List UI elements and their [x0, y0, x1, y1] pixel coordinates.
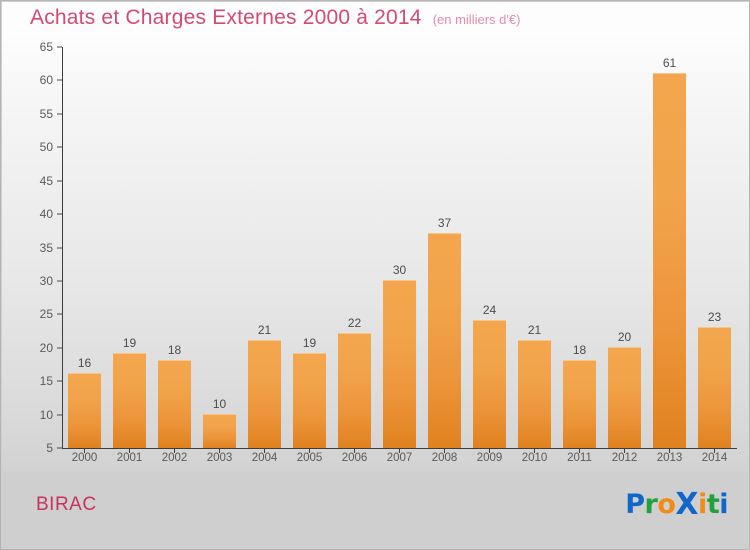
x-tick-label: 2004 — [243, 452, 287, 464]
logo-letter: t — [707, 489, 719, 520]
y-tick-label: 5 — [46, 441, 53, 455]
bar-slot: 61 — [648, 38, 692, 448]
bar[interactable] — [248, 340, 281, 448]
x-tick-label: 2006 — [333, 452, 377, 464]
x-tick-label: 2003 — [198, 452, 242, 464]
bar-value-label: 37 — [423, 216, 467, 230]
bar-value-label: 20 — [603, 330, 647, 344]
logo-letter: r — [645, 489, 658, 520]
chart-footer: BIRAC ProXiti — [2, 472, 750, 549]
chart-page: Achats et Charges Externes 2000 à 2014(e… — [0, 0, 750, 550]
bar-slot: 24 — [468, 38, 512, 448]
y-tick-label: 60 — [40, 73, 53, 87]
bar[interactable] — [608, 347, 641, 448]
y-tick-label: 65 — [40, 40, 53, 54]
chart-header: Achats et Charges Externes 2000 à 2014(e… — [2, 2, 750, 38]
x-tick-label: 2000 — [63, 452, 107, 464]
bar-value-label: 61 — [648, 56, 692, 70]
bar-value-label: 22 — [333, 316, 377, 330]
bar[interactable] — [698, 327, 731, 448]
y-tick-label: 20 — [40, 341, 53, 355]
bar[interactable] — [338, 333, 371, 448]
logo-letter: o — [657, 489, 675, 520]
page-title: Achats et Charges Externes 2000 à 2014 — [30, 6, 422, 29]
x-tick-label: 2011 — [558, 452, 602, 464]
chart-subtitle: (en milliers d'€) — [433, 12, 521, 27]
y-tick-label: 15 — [40, 374, 53, 388]
y-tick-label: 55 — [40, 107, 53, 121]
x-tick-label: 2012 — [603, 452, 647, 464]
bar-slot: 19 — [288, 38, 332, 448]
y-tick-label: 40 — [40, 207, 53, 221]
bar-value-label: 21 — [243, 323, 287, 337]
logo-letter: X — [675, 487, 698, 522]
entity-name: BIRAC — [36, 494, 97, 516]
bar[interactable] — [518, 340, 551, 448]
y-tick-label: 30 — [40, 274, 53, 288]
bar-slot: 16 — [63, 38, 107, 448]
x-tick-label: 2007 — [378, 452, 422, 464]
y-tick-label: 10 — [40, 408, 53, 422]
bar-value-label: 18 — [558, 343, 602, 357]
x-tick-label: 2001 — [108, 452, 152, 464]
bar-slot: 22 — [333, 38, 377, 448]
x-tick-label: 2009 — [468, 452, 512, 464]
bar-slot: 19 — [108, 38, 152, 448]
bar-slot: 21 — [513, 38, 557, 448]
bar-slot: 18 — [558, 38, 602, 448]
bar[interactable] — [473, 320, 506, 448]
y-tick-label: 35 — [40, 241, 53, 255]
bar-value-label: 21 — [513, 323, 557, 337]
x-tick-label: 2013 — [648, 452, 692, 464]
bar-slot: 30 — [378, 38, 422, 448]
x-axis: 2000200120022003200420052006200720082009… — [62, 452, 737, 472]
proxiti-logo[interactable]: ProXiti — [625, 486, 728, 521]
x-tick-label: 2005 — [288, 452, 332, 464]
bar-value-label: 24 — [468, 303, 512, 317]
bar[interactable] — [428, 233, 461, 448]
bar[interactable] — [293, 353, 326, 448]
bar-slot: 18 — [153, 38, 197, 448]
bar-slot: 10 — [198, 38, 242, 448]
bar-value-label: 10 — [198, 397, 242, 411]
bar[interactable] — [113, 353, 146, 448]
logo-letter: P — [625, 489, 644, 520]
bar-value-label: 19 — [288, 336, 332, 350]
bar-slot: 21 — [243, 38, 287, 448]
x-tick-label: 2014 — [693, 452, 737, 464]
bar[interactable] — [203, 414, 236, 448]
bar[interactable] — [68, 373, 101, 448]
x-tick-label: 2010 — [513, 452, 557, 464]
y-tick-label: 45 — [40, 174, 53, 188]
y-tick-label: 25 — [40, 307, 53, 321]
bar-value-label: 30 — [378, 263, 422, 277]
logo-letter: i — [719, 489, 728, 520]
bars-layer: 161918102119223037242118206123 — [62, 38, 737, 449]
bar-slot: 37 — [423, 38, 467, 448]
logo-letter: i — [698, 489, 707, 520]
x-tick-label: 2002 — [153, 452, 197, 464]
bar[interactable] — [383, 280, 416, 448]
y-axis: 5101520253035404550556065 — [2, 38, 62, 472]
bar-slot: 23 — [693, 38, 737, 448]
title-wrap: Achats et Charges Externes 2000 à 2014(e… — [30, 6, 520, 30]
x-tick-label: 2008 — [423, 452, 467, 464]
bar-value-label: 16 — [63, 356, 107, 370]
bar[interactable] — [158, 360, 191, 448]
bar[interactable] — [563, 360, 596, 448]
bar-value-label: 19 — [108, 336, 152, 350]
bar[interactable] — [653, 73, 686, 448]
y-tick-label: 50 — [40, 140, 53, 154]
plot-area: 5101520253035404550556065 16191810211922… — [2, 38, 750, 472]
bar-slot: 20 — [603, 38, 647, 448]
bar-value-label: 18 — [153, 343, 197, 357]
bar-value-label: 23 — [693, 310, 737, 324]
